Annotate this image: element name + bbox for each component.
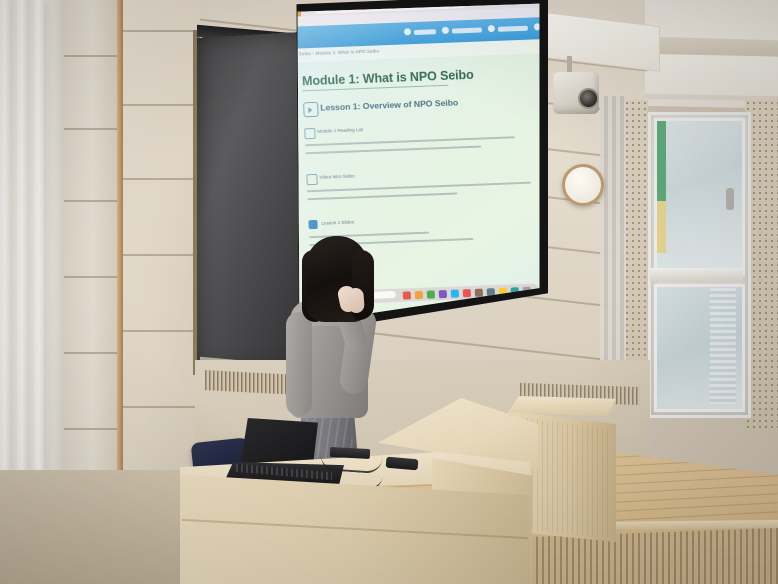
dock-app-icon[interactable] — [415, 290, 423, 298]
panel-seam — [64, 55, 117, 57]
dock-app-icon[interactable] — [475, 288, 483, 296]
card-heading: Module 1 Reading List — [317, 127, 363, 134]
panel-seam — [64, 276, 117, 278]
nav-item[interactable] — [452, 27, 482, 33]
window-green-marker — [657, 121, 666, 201]
nav-icon[interactable] — [404, 28, 411, 35]
dock-app-icon[interactable] — [487, 288, 495, 296]
window-yellow-marker — [657, 201, 666, 253]
circle-outline-icon — [306, 174, 317, 185]
card-text-line — [305, 136, 515, 146]
content-card[interactable]: Video Intro Seibo — [306, 165, 542, 174]
panel-seam — [64, 352, 117, 354]
card-text-line — [307, 182, 531, 192]
nav-icon[interactable] — [442, 27, 449, 34]
panel-seam — [123, 178, 200, 180]
circle-outline-icon — [304, 128, 315, 139]
panel-seam — [123, 330, 200, 332]
panel-seam — [64, 428, 117, 430]
panel-seam — [123, 254, 200, 256]
card-text-line — [305, 146, 481, 154]
panel-seam — [123, 104, 200, 106]
dock-app-icon[interactable] — [451, 289, 459, 297]
content-card[interactable]: Module 1 Reading List — [304, 119, 542, 128]
window-handle[interactable] — [726, 188, 734, 210]
panel-seam — [64, 128, 117, 130]
card-heading: Lesson 1 Slides — [321, 219, 354, 225]
dock-app-icon[interactable] — [463, 289, 471, 297]
nav-item[interactable] — [414, 29, 436, 35]
presenter-left-arm — [286, 312, 312, 416]
panel-seam — [64, 200, 117, 202]
dock-app-icon[interactable] — [427, 290, 435, 298]
window-blind — [710, 288, 736, 404]
nav-item[interactable] — [498, 26, 528, 32]
card-text-line — [307, 192, 457, 199]
dock-app-icon[interactable] — [439, 290, 447, 298]
card-heading: Video Intro Seibo — [319, 173, 354, 179]
projector-lens-icon — [578, 88, 599, 109]
panel-seam — [123, 30, 200, 32]
panel-seam — [123, 406, 200, 408]
lecture-hall-screenshot: Seibo › Module 1: What is NPO Seibo Modu… — [0, 0, 778, 584]
dock-app-icon[interactable] — [403, 291, 411, 299]
lesson-title: Lesson 1: Overview of NPO Seibo — [320, 97, 458, 112]
wall-clock-icon — [562, 164, 604, 206]
play-circle-icon — [303, 102, 319, 118]
window-sash — [650, 268, 743, 282]
content-card[interactable]: Lesson 1 Slides — [308, 211, 542, 220]
nav-icon[interactable] — [488, 25, 495, 32]
presenter-hand-right — [347, 287, 365, 313]
blue-square-icon — [308, 220, 317, 229]
